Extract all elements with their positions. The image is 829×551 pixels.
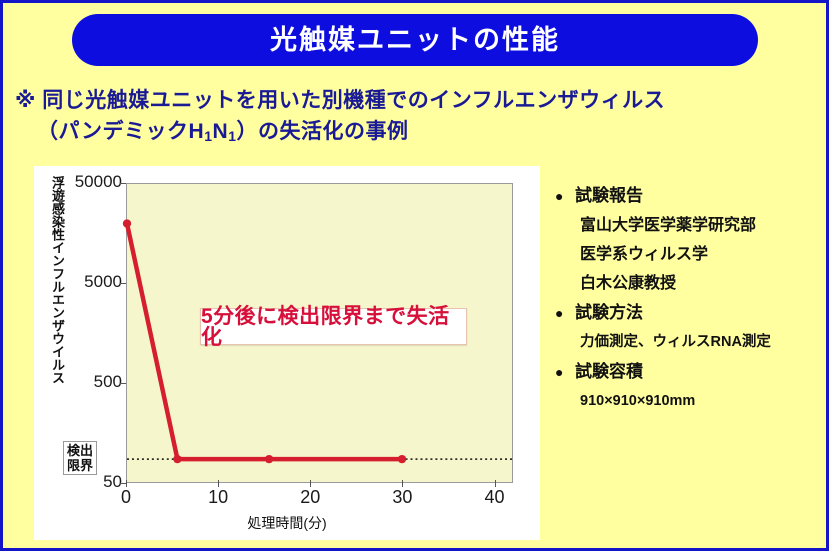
y-tick-label: 5000 <box>84 272 122 292</box>
x-tick-label: 20 <box>300 487 320 508</box>
bullet-icon: ● <box>555 357 575 387</box>
detection-limit-label: 検出 限界 <box>63 441 97 475</box>
subtitle-line-1: ※ 同じ光触媒ユニットを用いた別機種でのインフルエンザウィルス <box>15 89 665 112</box>
bullet-icon: ● <box>555 181 575 211</box>
x-tick-mark <box>495 480 496 487</box>
x-tick-mark <box>126 480 127 487</box>
data-point <box>123 219 131 227</box>
info-section-line: 910×910×910mm <box>555 387 823 416</box>
info-section-heading: 試験容積 <box>575 357 643 387</box>
info-section-heading: 試験方法 <box>575 298 643 328</box>
info-section-line: 医学系ウィルス学 <box>555 240 823 269</box>
data-point <box>398 455 406 463</box>
detection-limit-label-line-2: 限界 <box>67 458 93 473</box>
x-tick-label: 40 <box>485 487 505 508</box>
data-point <box>173 455 181 463</box>
info-section-heading-row: ●試験報告 <box>555 181 823 211</box>
info-panel: ●試験報告富山大学医学薬学研究部医学系ウィルス学白木公康教授●試験方法力価測定、… <box>555 181 823 416</box>
info-section-line: 白木公康教授 <box>555 269 823 298</box>
x-tick-label: 0 <box>121 487 131 508</box>
y-tick-label: 500 <box>94 372 122 392</box>
x-tick-label: 30 <box>392 487 412 508</box>
x-tick-label: 10 <box>208 487 228 508</box>
info-section-line: 富山大学医学薬学研究部 <box>555 211 823 240</box>
x-tick-mark <box>310 480 311 487</box>
subtitle-line-2-prefix: （パンデミックH <box>37 120 204 143</box>
slide-title-bar: 光触媒ユニットの性能 <box>72 14 758 66</box>
info-section-heading-row: ●試験方法 <box>555 298 823 328</box>
info-section-heading: 試験報告 <box>575 181 643 211</box>
annotation-text: 5分後に検出限界まで失活化 <box>201 306 466 348</box>
annotation-callout: 5分後に検出限界まで失活化 <box>200 308 467 345</box>
bullet-icon: ● <box>555 298 575 328</box>
subtitle-line-2: （パンデミックH1N1）の失活化の事例 <box>15 116 820 149</box>
y-tick-label: 50000 <box>75 172 122 192</box>
data-point <box>265 455 273 463</box>
subtitle-subscript-1: 1 <box>204 128 212 144</box>
subtitle-block: ※ 同じ光触媒ユニットを用いた別機種でのインフルエンザウィルス （パンデミックH… <box>15 85 820 149</box>
subtitle-line-2-mid: N <box>213 120 229 143</box>
slide-page: 光触媒ユニットの性能 ※ 同じ光触媒ユニットを用いた別機種でのインフルエンザウィ… <box>0 0 829 551</box>
subtitle-line-2-suffix: ）の失活化の事例 <box>236 120 408 143</box>
y-tick-label: 50 <box>103 472 122 492</box>
x-axis-title: 処理時間(分) <box>34 513 540 533</box>
detection-limit-label-line-1: 検出 <box>67 443 93 458</box>
subtitle-subscript-2: 1 <box>228 128 236 144</box>
x-tick-mark <box>402 480 403 487</box>
info-section-heading-row: ●試験容積 <box>555 357 823 387</box>
y-axis-tick-labels: 50500500050000 <box>34 166 122 540</box>
chart-card: 浮遊感染性インフルエンザウイルス 50500500050000 5分後に検出限界… <box>34 166 540 540</box>
page-title: 光触媒ユニットの性能 <box>270 27 560 54</box>
info-section-line: 力価測定、ウィルスRNA測定 <box>555 328 823 357</box>
x-tick-mark <box>218 480 219 487</box>
